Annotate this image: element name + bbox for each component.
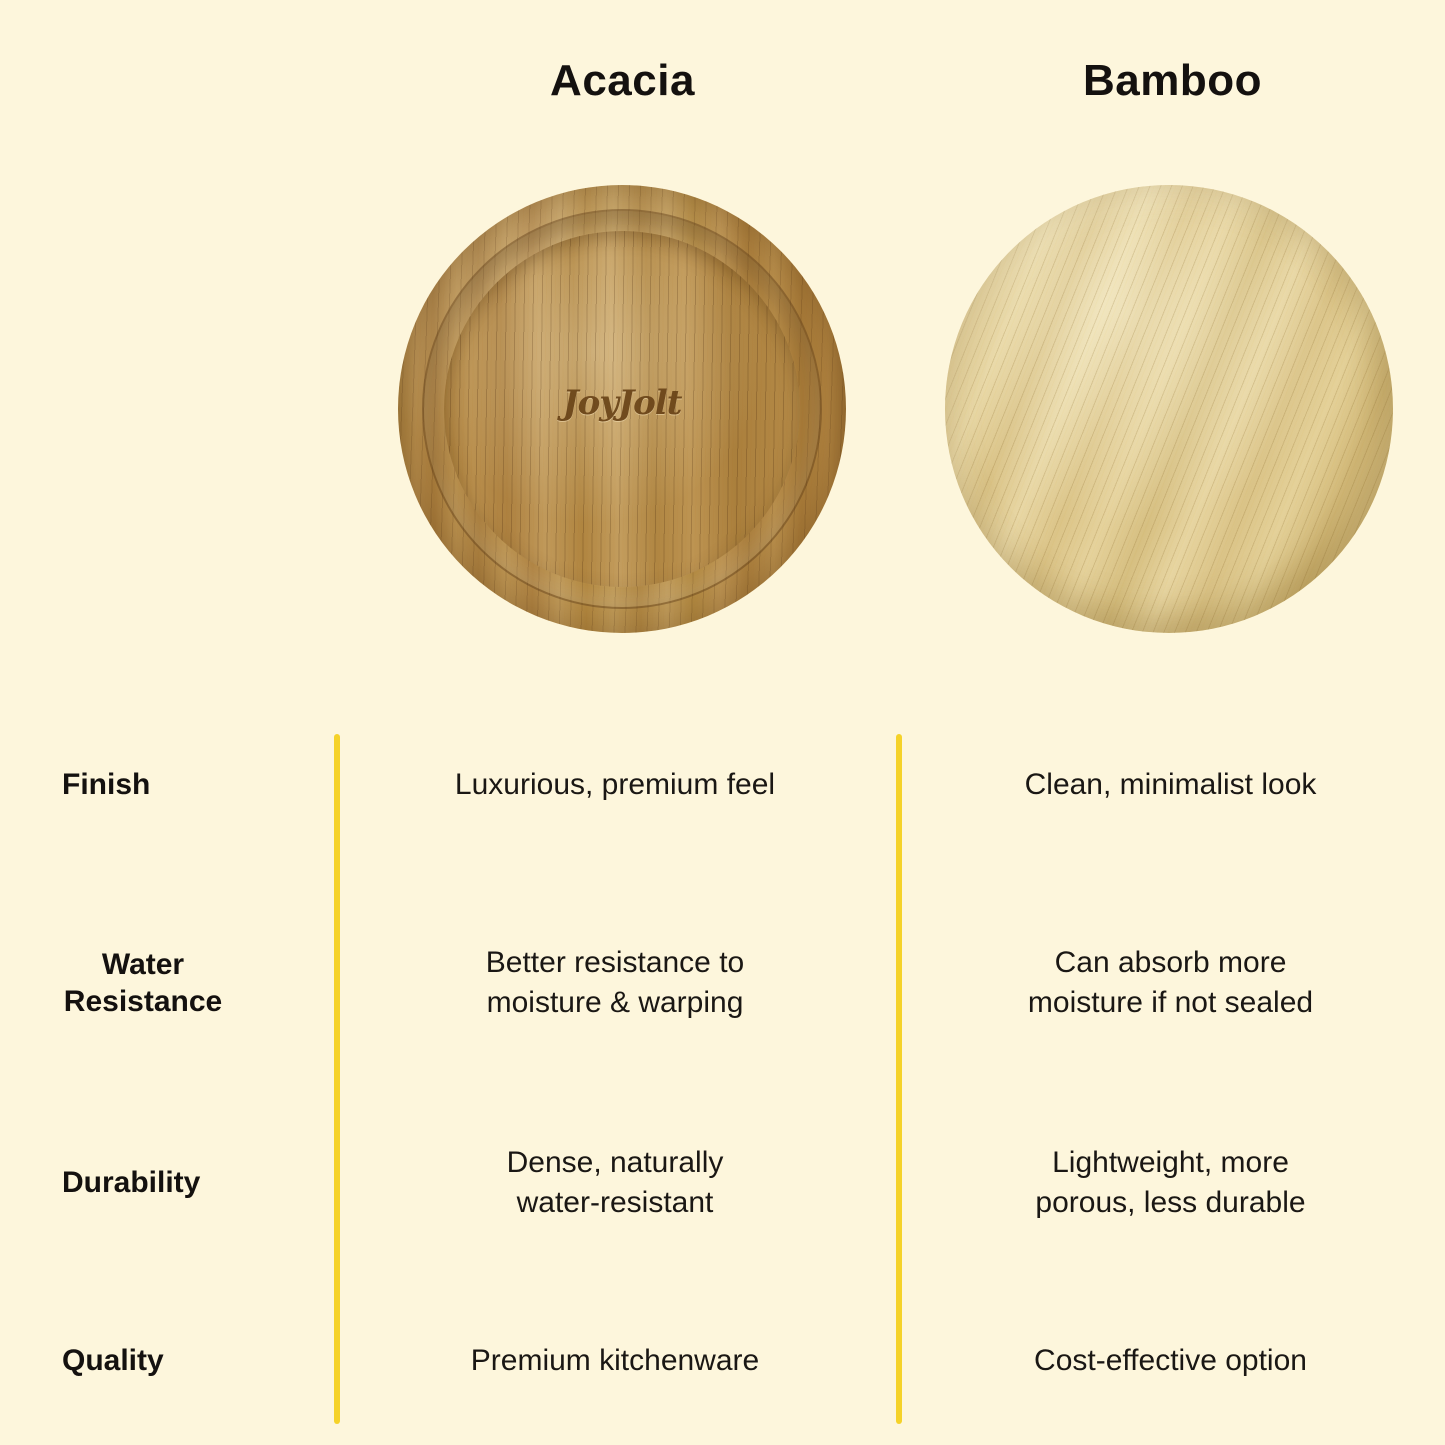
cell-finish-bamboo: Clean, minimalist look — [896, 765, 1445, 805]
table-row-quality: Quality Premium kitchenware Cost-effecti… — [0, 1316, 1445, 1406]
brand-logo-engraving: JoyJolt — [398, 383, 846, 423]
comparison-table: Finish Luxurious, premium feel Clean, mi… — [0, 714, 1445, 1445]
table-row-water-resistance: Water Resistance Better resistance to mo… — [0, 928, 1445, 1038]
row-label-water-resistance-line1: Water — [0, 946, 286, 984]
cell-water-resistance-bamboo-line1: Can absorb more — [914, 943, 1427, 983]
table-row-durability: Durability Dense, naturally water-resist… — [0, 1128, 1445, 1238]
table-row-finish: Finish Luxurious, premium feel Clean, mi… — [0, 740, 1445, 830]
row-label-water-resistance-line2: Resistance — [0, 983, 286, 1021]
cell-finish-acacia: Luxurious, premium feel — [334, 765, 896, 805]
cell-quality-acacia: Premium kitchenware — [334, 1341, 896, 1381]
cell-durability-acacia-line2: water-resistant — [352, 1183, 878, 1223]
cell-quality-bamboo: Cost-effective option — [896, 1341, 1445, 1381]
cell-water-resistance-acacia-line1: Better resistance to — [352, 943, 878, 983]
cell-durability-acacia-line1: Dense, naturally — [352, 1143, 878, 1183]
cell-durability-acacia: Dense, naturally water-resistant — [334, 1143, 896, 1222]
row-label-quality: Quality — [0, 1342, 334, 1380]
column-title-acacia: Acacia — [345, 56, 900, 106]
column-titles: Acacia Bamboo — [0, 56, 1445, 126]
column-title-bamboo: Bamboo — [900, 56, 1445, 106]
cell-durability-bamboo-line1: Lightweight, more — [914, 1143, 1427, 1183]
cell-water-resistance-bamboo: Can absorb more moisture if not sealed — [896, 943, 1445, 1022]
row-label-water-resistance: Water Resistance — [0, 946, 334, 1021]
cell-durability-bamboo-line2: porous, less durable — [914, 1183, 1427, 1223]
cell-water-resistance-acacia: Better resistance to moisture & warping — [334, 943, 896, 1022]
acacia-plate-image: JoyJolt — [398, 185, 846, 633]
bamboo-plate-graphic — [945, 185, 1393, 633]
acacia-plate-inner-well — [444, 231, 800, 587]
cell-durability-bamboo: Lightweight, more porous, less durable — [896, 1143, 1445, 1222]
comparison-infographic: Acacia Bamboo JoyJolt Finish Luxurious, … — [0, 0, 1445, 1445]
row-label-finish: Finish — [0, 766, 334, 804]
bamboo-plate-image — [945, 185, 1393, 633]
acacia-plate-graphic: JoyJolt — [398, 185, 846, 633]
product-images: JoyJolt — [0, 185, 1445, 665]
cell-water-resistance-bamboo-line2: moisture if not sealed — [914, 983, 1427, 1023]
row-label-durability: Durability — [0, 1164, 334, 1202]
cell-water-resistance-acacia-line2: moisture & warping — [352, 983, 878, 1023]
